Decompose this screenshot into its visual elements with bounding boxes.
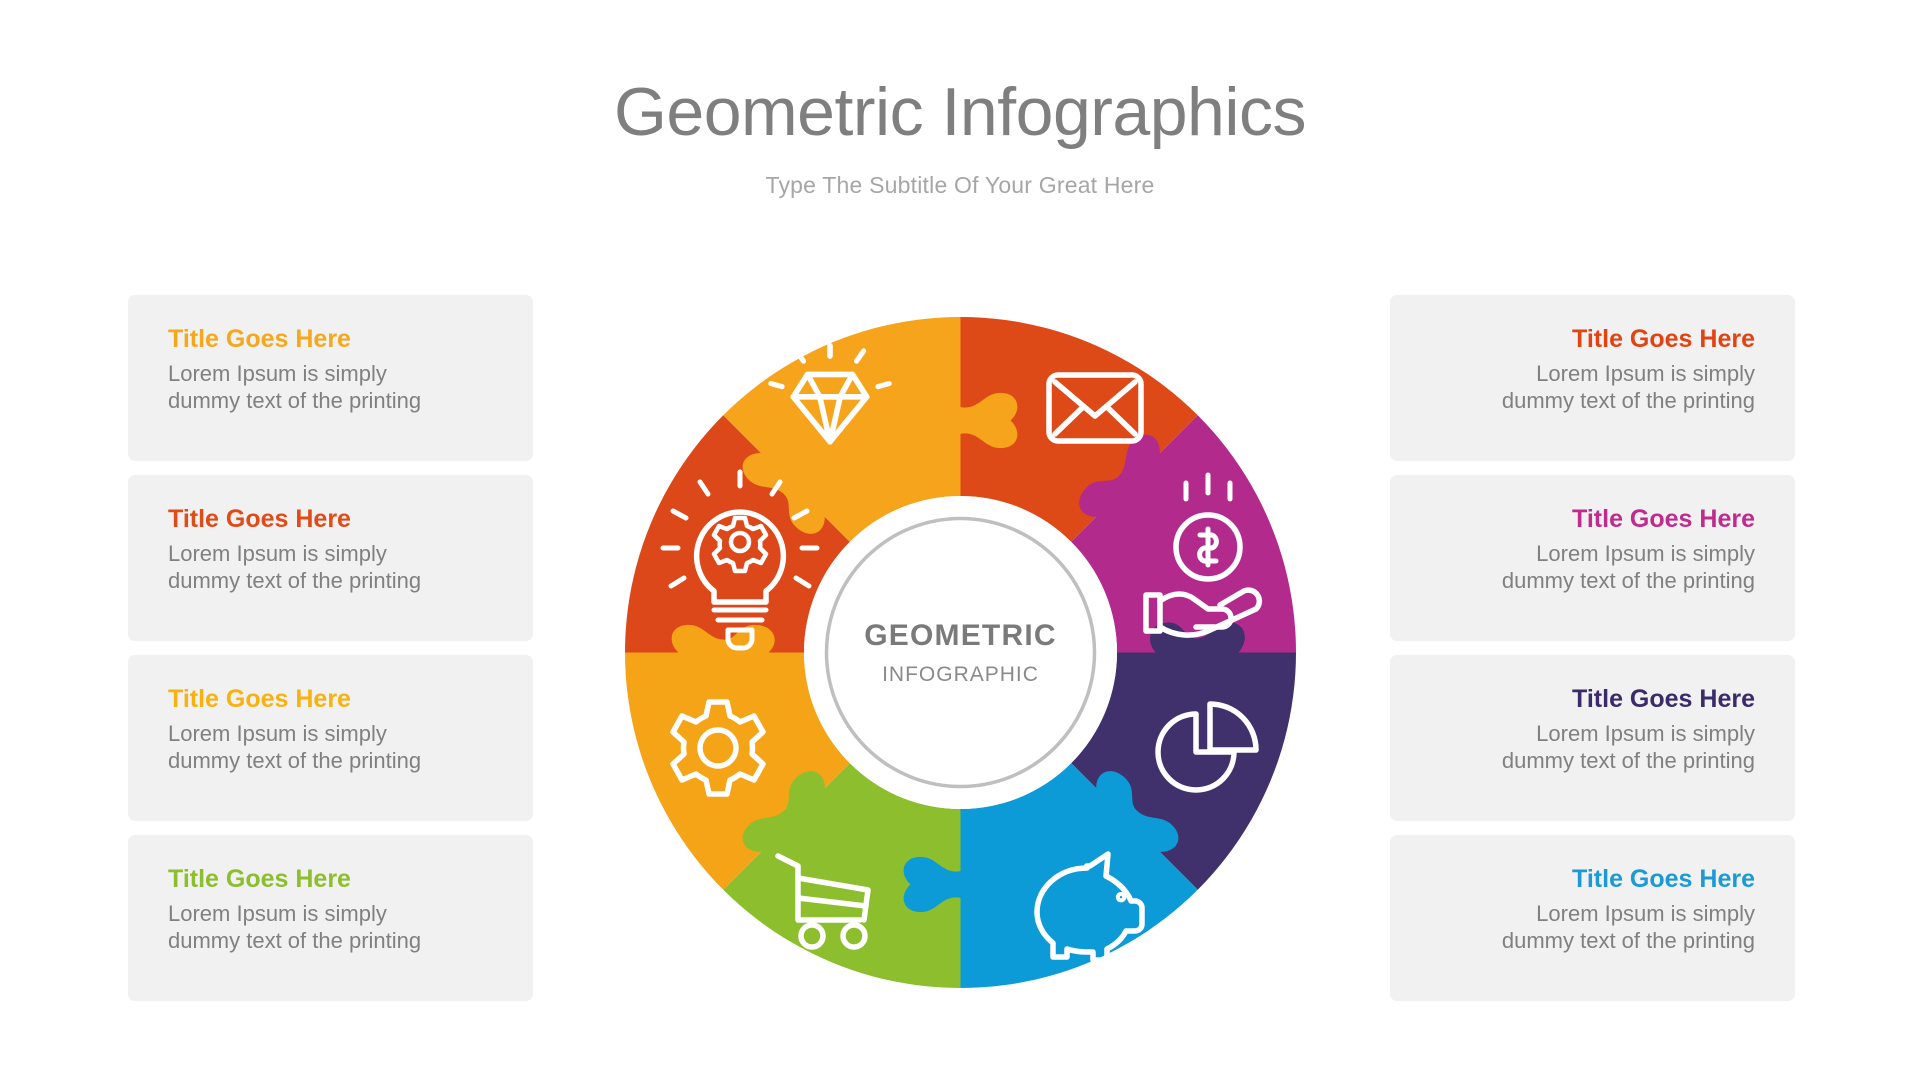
card-body: Lorem Ipsum is simply dummy text of the … (168, 900, 493, 956)
card-body: Lorem Ipsum is simply dummy text of the … (1430, 900, 1755, 956)
center-disc (804, 496, 1117, 809)
card-body: Lorem Ipsum is simply dummy text of the … (168, 360, 493, 416)
left-card-column: Title Goes Here Lorem Ipsum is simply du… (128, 295, 533, 1015)
card-left-2[interactable]: Title Goes Here Lorem Ipsum is simply du… (128, 475, 533, 641)
card-title: Title Goes Here (1430, 685, 1755, 715)
card-title: Title Goes Here (168, 505, 493, 535)
page-subtitle: Type The Subtitle Of Your Great Here (0, 146, 1920, 199)
page-title: Geometric Infographics (0, 0, 1920, 146)
card-title: Title Goes Here (1430, 325, 1755, 355)
card-right-3[interactable]: Title Goes Here Lorem Ipsum is simply du… (1390, 655, 1795, 821)
card-left-1[interactable]: Title Goes Here Lorem Ipsum is simply du… (128, 295, 533, 461)
card-left-4[interactable]: Title Goes Here Lorem Ipsum is simply du… (128, 835, 533, 1001)
card-left-3[interactable]: Title Goes Here Lorem Ipsum is simply du… (128, 655, 533, 821)
card-title: Title Goes Here (168, 865, 493, 895)
card-right-2[interactable]: Title Goes Here Lorem Ipsum is simply du… (1390, 475, 1795, 641)
card-body: Lorem Ipsum is simply dummy text of the … (168, 720, 493, 776)
header: Geometric Infographics Type The Subtitle… (0, 0, 1920, 199)
card-title: Title Goes Here (168, 685, 493, 715)
puzzle-wheel: GEOMETRIC INFOGRAPHIC (608, 300, 1313, 1005)
card-body: Lorem Ipsum is simply dummy text of the … (1430, 720, 1755, 776)
card-body: Lorem Ipsum is simply dummy text of the … (1430, 540, 1755, 596)
card-title: Title Goes Here (1430, 505, 1755, 535)
card-title: Title Goes Here (168, 325, 493, 355)
right-card-column: Title Goes Here Lorem Ipsum is simply du… (1390, 295, 1795, 1015)
card-title: Title Goes Here (1430, 865, 1755, 895)
card-body: Lorem Ipsum is simply dummy text of the … (168, 540, 493, 596)
slide-root: Geometric Infographics Type The Subtitle… (0, 0, 1920, 1080)
card-right-1[interactable]: Title Goes Here Lorem Ipsum is simply du… (1390, 295, 1795, 461)
card-right-4[interactable]: Title Goes Here Lorem Ipsum is simply du… (1390, 835, 1795, 1001)
card-body: Lorem Ipsum is simply dummy text of the … (1430, 360, 1755, 416)
